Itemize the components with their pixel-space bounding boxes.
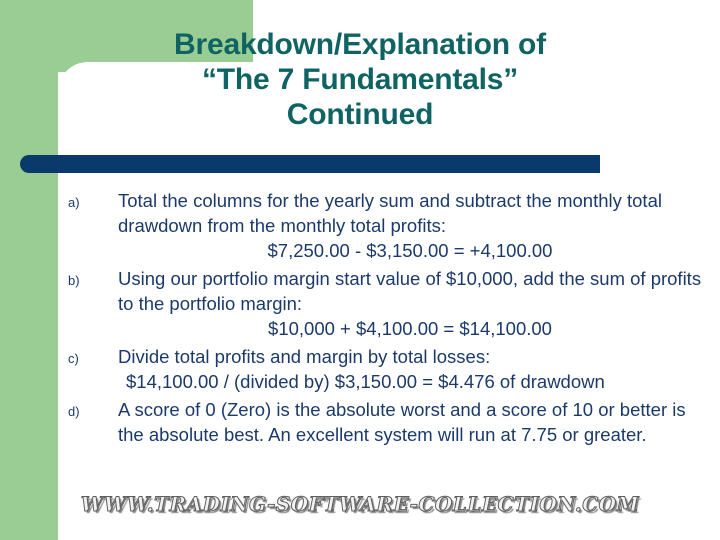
list-item-formula: $10,000 + $4,100.00 = $14,100.00 <box>118 316 702 341</box>
navy-divider-bar <box>20 155 600 173</box>
list-item-body: Divide total profits and margin by total… <box>118 344 702 394</box>
list-item: d) A score of 0 (Zero) is the absolute w… <box>68 397 702 447</box>
list-item-text: Using our portfolio margin start value o… <box>118 266 702 316</box>
presentation-slide: Breakdown/Explanation of “The 7 Fundamen… <box>0 0 720 540</box>
bullet-list: a) Total the columns for the yearly sum … <box>68 188 702 450</box>
slide-title: Breakdown/Explanation of “The 7 Fundamen… <box>60 28 660 132</box>
list-item-formula: $14,100.00 / (divided by) $3,150.00 = $4… <box>118 369 702 394</box>
list-item: b) Using our portfolio margin start valu… <box>68 266 702 341</box>
list-item-body: A score of 0 (Zero) is the absolute wors… <box>118 397 702 447</box>
list-item-text: A score of 0 (Zero) is the absolute wors… <box>118 397 702 447</box>
green-accent-left-band <box>0 0 58 540</box>
list-item: c) Divide total profits and margin by to… <box>68 344 702 394</box>
list-item-text: Total the columns for the yearly sum and… <box>118 188 702 238</box>
list-item-marker: a) <box>68 188 118 215</box>
list-item-formula: $7,250.00 - $3,150.00 = +4,100.00 <box>118 238 702 263</box>
list-item-body: Total the columns for the yearly sum and… <box>118 188 702 263</box>
list-item-text: Divide total profits and margin by total… <box>118 344 702 369</box>
site-watermark: WWW.TRADING-SOFTWARE-COLLECTION.COM <box>0 492 720 516</box>
list-item-marker: b) <box>68 266 118 293</box>
list-item-marker: c) <box>68 344 118 371</box>
list-item: a) Total the columns for the yearly sum … <box>68 188 702 263</box>
list-item-marker: d) <box>68 397 118 424</box>
list-item-body: Using our portfolio margin start value o… <box>118 266 702 341</box>
